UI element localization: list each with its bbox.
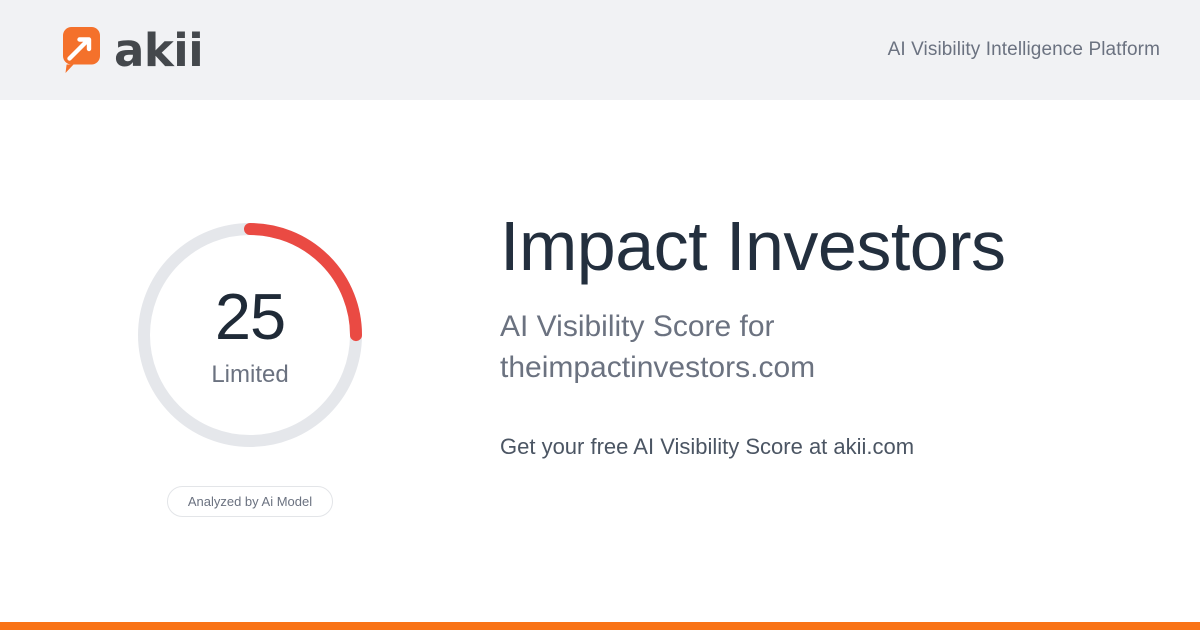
score-gauge-section: 25 Limited Analyzed by Ai Model (0, 100, 500, 517)
footer-accent-bar (0, 622, 1200, 630)
akii-speech-bubble-arrow-icon (56, 26, 105, 75)
gauge-center-readout: 25 Limited (137, 222, 363, 448)
brand-name: akii (114, 28, 203, 73)
page-header: akii AI Visibility Intelligence Platform (0, 0, 1200, 100)
brand-logo[interactable]: akii (56, 26, 203, 75)
report-text-section: Impact Investors AI Visibility Score for… (500, 100, 1006, 458)
analyzed-by-badge: Analyzed by Ai Model (167, 486, 333, 517)
main-content: 25 Limited Analyzed by Ai Model Impact I… (0, 100, 1200, 622)
header-tagline: AI Visibility Intelligence Platform (888, 39, 1160, 61)
page-title: Impact Investors (500, 210, 1006, 284)
page-subtitle: AI Visibility Score for theimpactinvesto… (500, 306, 900, 389)
score-gauge: 25 Limited (137, 222, 363, 448)
score-rating-label: Limited (211, 363, 288, 387)
cta-text: Get your free AI Visibility Score at aki… (500, 436, 1006, 458)
score-value: 25 (215, 284, 285, 349)
